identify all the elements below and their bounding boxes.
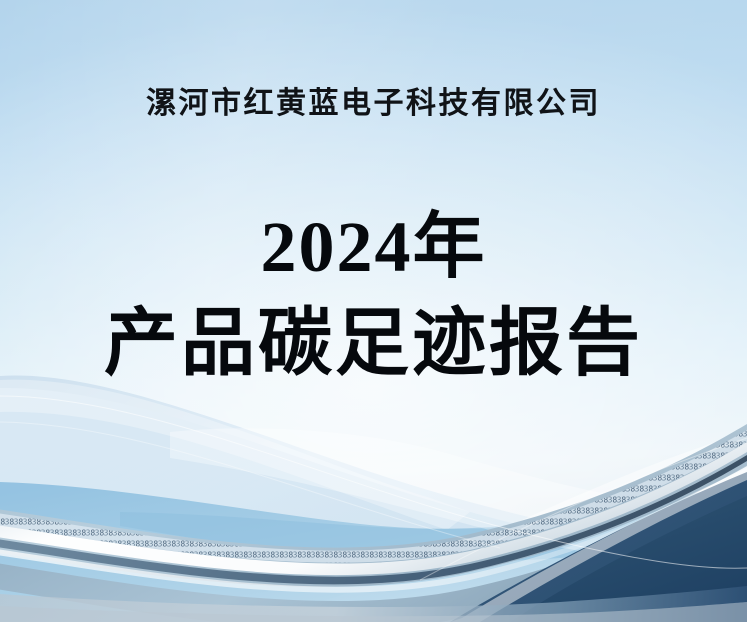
report-cover-page: 8 3	[0, 0, 747, 622]
cover-text-layer: 漯河市红黄蓝电子科技有限公司 2024年 产品碳足迹报告	[0, 0, 747, 622]
report-main-title: 产品碳足迹报告	[0, 305, 747, 385]
report-year-title: 2024年	[0, 210, 747, 286]
company-name: 漯河市红黄蓝电子科技有限公司	[0, 78, 747, 122]
